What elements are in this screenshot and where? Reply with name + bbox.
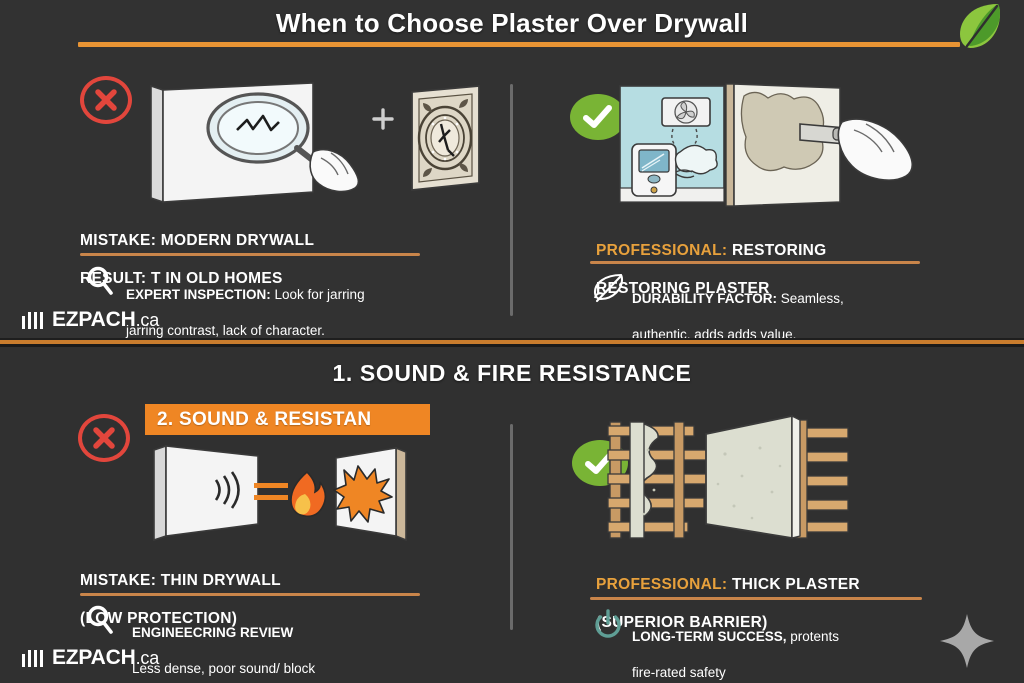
bottom-right-heading-rest: THICK PLASTER (727, 576, 860, 593)
top-right-detail: DURABILITY FACTOR: Seamless, authentic, … (632, 272, 952, 344)
logo-text-top: EZPACH.ca (52, 308, 159, 332)
infographic-canvas: When to Choose Plaster Over Drywall (0, 0, 1024, 683)
leaf-outline-icon (592, 272, 624, 309)
top-right-detail-text: Seamless, (777, 291, 844, 306)
logo-bars-icon (22, 312, 43, 329)
art-humidifier-and-plaster-trowel (618, 82, 920, 217)
x-mark-icon (80, 76, 132, 124)
power-icon (592, 608, 624, 645)
column-divider-bottom (510, 424, 513, 630)
bottom-left-detail: ENGINEECRING REVIEW Less dense, poor sou… (132, 606, 472, 678)
magnifier-icon (86, 266, 114, 301)
bottom-right-detail-label: LONG-TERM SUCCESS, (632, 629, 787, 644)
section-divider (0, 338, 1024, 347)
top-left-separator (80, 253, 420, 256)
page-title: When to Choose Plaster Over Drywall (0, 8, 1024, 39)
bottom-right-separator (590, 597, 922, 600)
logo-bars-icon (22, 650, 43, 667)
bottom-left-separator (80, 593, 420, 596)
bottom-right-detail-text2: fire-rated safety (632, 665, 726, 680)
art-drywall-magnifier-medallion (145, 80, 480, 213)
bottom-right-detail-text: protents (787, 629, 840, 644)
bottom-left-detail-label: ENGINEECRING REVIEW (132, 625, 293, 640)
ribbon-sound-resistance: 2. SOUND & RESISTAN (145, 404, 430, 435)
top-left-detail-text: Look for jarring (271, 287, 365, 302)
leaf-icon (958, 2, 1002, 55)
top-left-detail: EXPERT INSPECTION: Look for jarring jarr… (126, 268, 456, 340)
magnifier-icon (86, 605, 114, 640)
logo-text-bottom: EZPACH.ca (52, 646, 159, 670)
bottom-left-heading-line1: MISTAKE: THIN DRYWALL (80, 572, 281, 589)
x-mark-icon (78, 414, 130, 462)
top-right-detail-label: DURABILITY FACTOR: (632, 291, 777, 306)
logo-ezpach-top[interactable]: EZPACH.ca (22, 308, 159, 332)
bottom-left-detail-text2: Less dense, poor sound/ block (132, 661, 315, 676)
art-thick-plaster-wood-lath (600, 414, 860, 547)
art-thin-drywall-sound-fire (150, 436, 410, 551)
top-left-detail-label: EXPERT INSPECTION: (126, 287, 271, 302)
logo-ezpach-bottom[interactable]: EZPACH.ca (22, 646, 159, 670)
top-right-heading-accent: PROFESSIONAL: (596, 242, 727, 259)
top-left-heading-line1: MISTAKE: MODERN DRYWALL (80, 232, 314, 249)
top-right-separator (590, 261, 920, 264)
title-underline (78, 42, 960, 47)
bottom-right-detail: LONG-TERM SUCCESS, protents fire-rated s… (632, 610, 962, 682)
sparkle-icon (938, 612, 996, 675)
section-title-sound-fire: 1. SOUND & FIRE RESISTANCE (0, 360, 1024, 387)
top-right-heading-rest: RESTORING (727, 242, 826, 259)
column-divider-top (510, 84, 513, 316)
bottom-right-heading-accent: PROFESSIONAL: (596, 576, 727, 593)
